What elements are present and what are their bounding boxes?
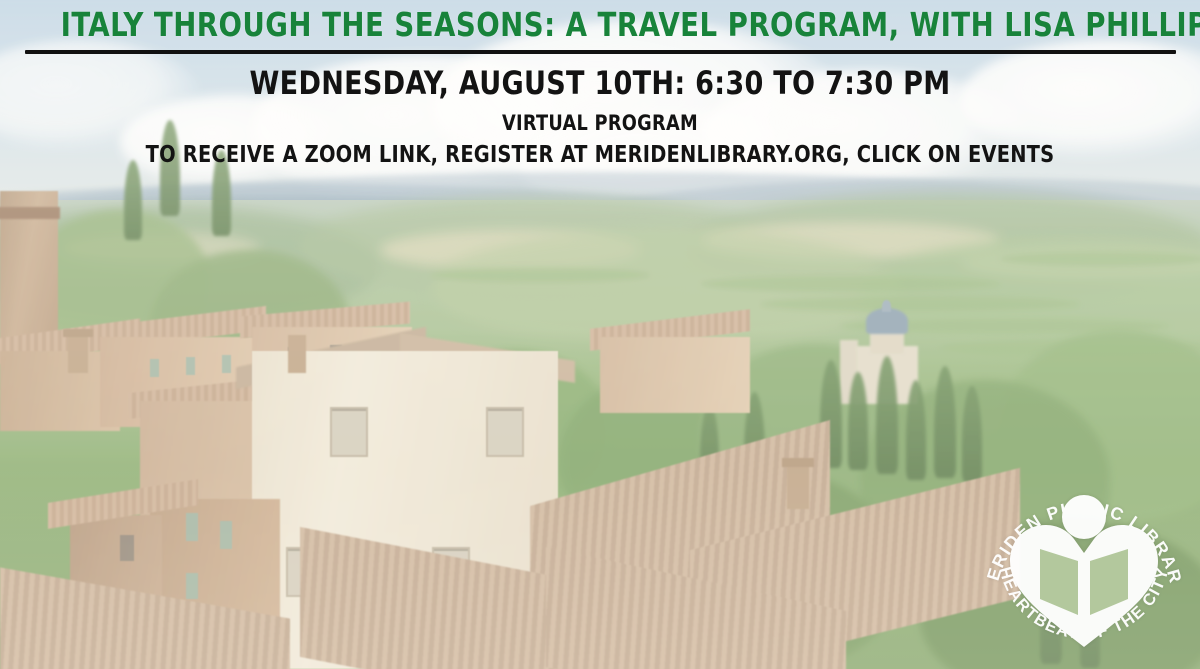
event-date-time: WEDNESDAY, AUGUST 10TH: 6:30 TO 7:30 PM [36,64,1164,102]
library-logo: MERIDEN PUBLIC LIBRARY HEARTBEAT OF THE … [976,465,1192,665]
title-divider [25,50,1176,54]
registration-instructions: TO RECEIVE A ZOOM LINK, REGISTER AT MERI… [36,142,1164,168]
page-title: ITALY THROUGH THE SEASONS: A TRAVEL PROG… [42,0,1158,43]
flyer-text-block: ITALY THROUGH THE SEASONS: A TRAVEL PROG… [0,0,1200,168]
meriden-public-library-seal: MERIDEN PUBLIC LIBRARY HEARTBEAT OF THE … [976,465,1192,665]
event-format: VIRTUAL PROGRAM [36,111,1164,135]
event-flyer: ITALY THROUGH THE SEASONS: A TRAVEL PROG… [0,0,1200,669]
